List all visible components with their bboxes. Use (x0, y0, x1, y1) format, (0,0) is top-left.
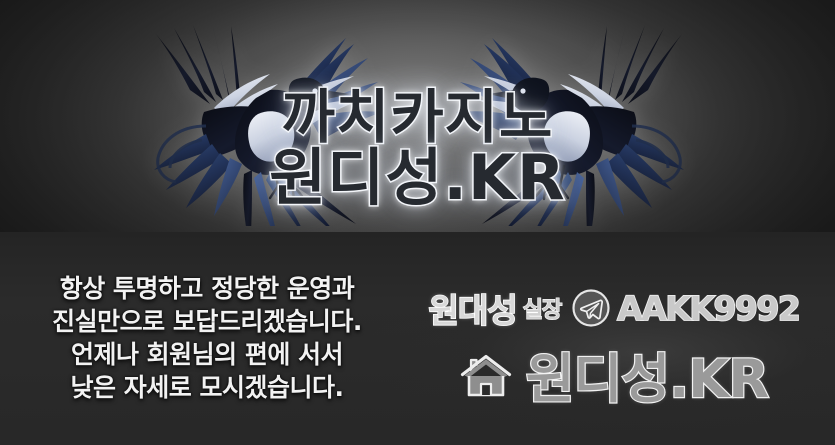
hero-section: 까치카지노 원디성.KR (0, 0, 835, 232)
site-url[interactable]: 원디성.KR (526, 337, 768, 413)
contact-block: 원대성 실장 AAKK9992 (404, 282, 824, 410)
casino-promo-banner: 까치카지노 원디성.KR 항상 투명하고 정당한 운영과 진실만으로 보답드리겠… (0, 0, 835, 445)
home-icon[interactable] (460, 351, 512, 399)
slogan-line-3: 언제나 회원님의 편에 서서 (14, 338, 400, 371)
website-row[interactable]: 원디성.KR (404, 340, 824, 410)
slogan-line-1: 항상 투명하고 정당한 운영과 (14, 272, 400, 305)
manager-title: 실장 (523, 292, 561, 324)
bottom-section: 항상 투명하고 정당한 운영과 진실만으로 보답드리겠습니다. 언제나 회원님의… (0, 232, 835, 445)
magpie-icon-left (118, 8, 408, 226)
telegram-contact-row[interactable]: 원대성 실장 AAKK9992 (404, 282, 824, 334)
slogan-line-4: 낮은 자세로 모시겠습니다. (14, 371, 400, 404)
telegram-icon[interactable] (571, 288, 611, 328)
slogan-block: 항상 투명하고 정당한 운영과 진실만으로 보답드리겠습니다. 언제나 회원님의… (14, 272, 400, 404)
slogan-line-2: 진실만으로 보답드리겠습니다. (14, 305, 400, 338)
magpie-icon-right (430, 8, 720, 226)
magpie-tail (243, 166, 356, 226)
manager-name: 원대성 (429, 284, 517, 332)
telegram-handle[interactable]: AAKK9992 (617, 289, 799, 328)
